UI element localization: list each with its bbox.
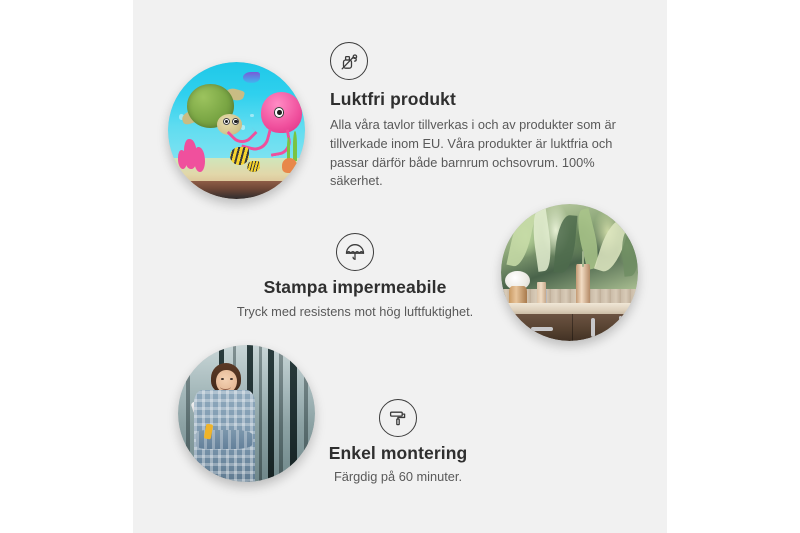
sea-scene-artwork (168, 62, 305, 199)
photo-sea-scene (168, 62, 305, 199)
poster-canvas: Luktfri produkt Alla våra tavlor tillver… (0, 0, 800, 533)
tree (259, 345, 262, 482)
tree (186, 345, 189, 482)
tall-vase (576, 264, 590, 306)
cabinet-handle (531, 327, 553, 330)
feature-title: Enkel montering (290, 443, 506, 464)
feature-title: Luktfri produkt (330, 89, 622, 110)
umbrella-icon (336, 233, 374, 271)
content-panel: Luktfri produkt Alla våra tavlor tillver… (133, 0, 667, 533)
vase-stem (582, 251, 584, 267)
feature-description: Färgdig på 60 minuter. (290, 468, 506, 487)
sea-dark-foreground (168, 181, 305, 199)
bathroom-scene-artwork (501, 204, 638, 341)
feature-description: Alla våra tavlor tillverkas i och av pro… (330, 116, 622, 191)
tree (279, 345, 282, 482)
feature-title: Stampa impermeabile (215, 277, 495, 298)
coral (194, 147, 205, 172)
fish-icon (243, 72, 259, 83)
no-fragrance-icon (330, 42, 368, 80)
paint-roller-icon (379, 399, 417, 437)
photo-bathroom-scene (501, 204, 638, 341)
cabinet-handle (619, 316, 622, 334)
cabinet-seam (572, 314, 573, 341)
tree (268, 345, 273, 482)
feature-waterproof: Stampa impermeabile Tryck med resistens … (215, 233, 495, 322)
feature-odourless: Luktfri produkt Alla våra tavlor tillver… (330, 42, 622, 191)
shell (282, 158, 297, 173)
fish-icon (230, 147, 249, 165)
soap-dispenser (537, 282, 547, 304)
cabinet-handle (591, 318, 594, 337)
fish-icon (247, 161, 259, 172)
seagrass (293, 131, 297, 161)
feature-description: Tryck med resistens mot hög luftfuktighe… (215, 303, 495, 322)
turtle-eye (223, 118, 230, 125)
feature-assembly: Enkel montering Färgdig på 60 minuter. (290, 399, 506, 487)
